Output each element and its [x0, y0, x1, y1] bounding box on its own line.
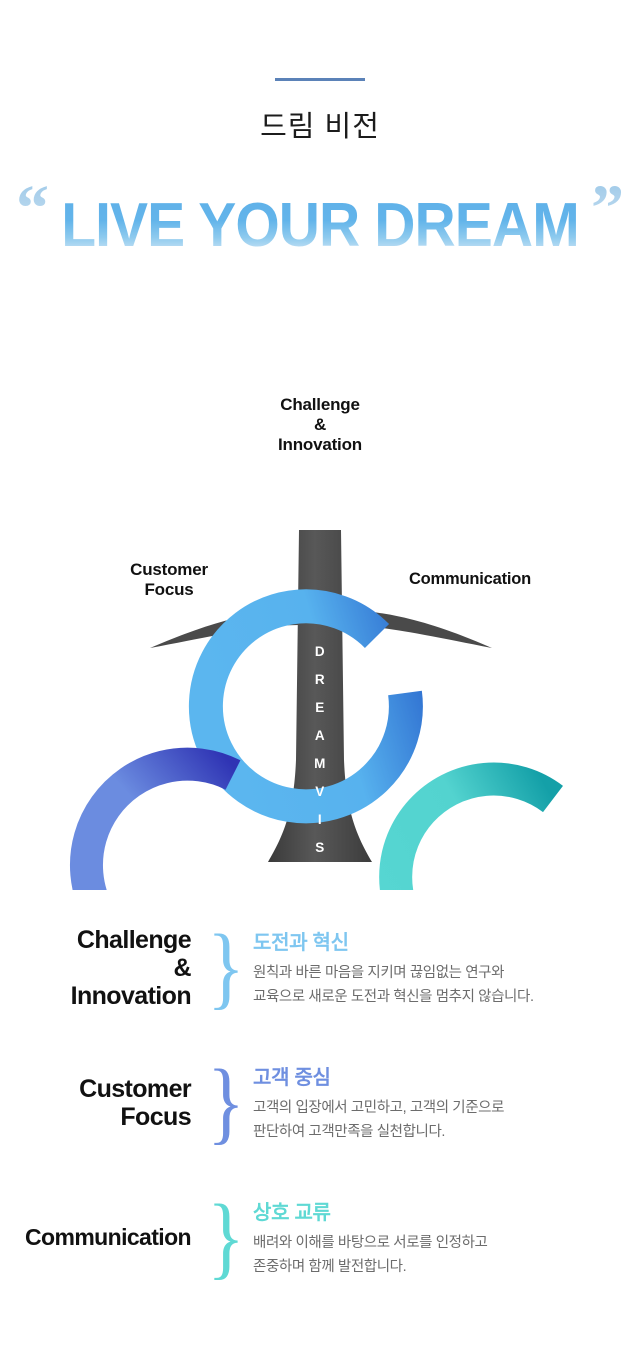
ring-label-communication: Communication	[365, 570, 575, 589]
page-header: 드림 비전	[0, 0, 640, 145]
ring-label-challenge: Challenge & Innovation	[232, 395, 408, 455]
value-en-line: &	[0, 954, 191, 982]
value-en-line: Challenge	[0, 926, 191, 954]
ring-label-line: Customer	[85, 560, 253, 580]
svg-text:E: E	[315, 700, 325, 715]
value-desc-line: 판단하여 고객만족을 실천합니다.	[253, 1121, 640, 1144]
ring-label-line: Challenge	[232, 395, 408, 415]
value-description: 원칙과 바른 마음을 지키며 끊임없는 연구와 교육으로 새로운 도전과 혁신을…	[253, 962, 640, 1009]
svg-text:V: V	[315, 784, 325, 799]
value-kr-title: 도전과 혁신	[253, 926, 640, 955]
ring-label-line: Communication	[365, 570, 575, 589]
value-desc-line: 고객의 입장에서 고민하고, 고객의 기준으로	[253, 1097, 640, 1120]
value-desc-line: 교육으로 새로운 도전과 혁신을 멈추지 않습니다.	[253, 986, 640, 1009]
value-en-line: Innovation	[0, 982, 191, 1010]
value-description: 배려와 이해를 바탕으로 서로를 인정하고 존중하며 함께 발전합니다.	[253, 1232, 640, 1279]
value-en-title: Communication	[0, 1225, 205, 1251]
value-body: 고객 중심 고객의 입장에서 고민하고, 고객의 기준으로 판단하여 고객만족을…	[247, 1061, 640, 1144]
value-row-challenge: Challenge & Innovation } 도전과 혁신 원칙과 바른 마…	[0, 900, 640, 1035]
page-title: 드림 비전	[0, 103, 640, 145]
svg-text:D: D	[315, 644, 325, 659]
svg-text:R: R	[315, 672, 325, 687]
trunk-label: D R E A M V I S I	[314, 644, 326, 883]
svg-text:I: I	[318, 868, 322, 883]
ring-communication	[396, 779, 553, 890]
value-desc-line: 존중하며 함께 발전합니다.	[253, 1256, 640, 1279]
svg-text:I: I	[318, 812, 322, 827]
quote-close-icon: ”	[591, 176, 624, 242]
value-en-title: Challenge & Innovation	[0, 926, 205, 1010]
svg-text:M: M	[314, 756, 326, 771]
value-kr-title: 상호 교류	[253, 1196, 640, 1225]
value-en-line: Customer	[0, 1075, 191, 1103]
ring-label-line: Innovation	[232, 435, 408, 455]
value-desc-line: 원칙과 바른 마음을 지키며 끊임없는 연구와	[253, 962, 640, 985]
dream-vision-tree-diagram: D R E A M V I S I Challenge & Innovation…	[0, 290, 640, 890]
brace-icon: }	[205, 1069, 247, 1135]
value-description: 고객의 입장에서 고민하고, 고객의 기준으로 판단하여 고객만족을 실천합니다…	[253, 1097, 640, 1144]
value-en-title: Customer Focus	[0, 1075, 205, 1131]
value-desc-line: 배려와 이해를 바탕으로 서로를 인정하고	[253, 1232, 640, 1255]
hero-slogan-text: LIVE YOUR DREAM	[26, 190, 615, 262]
value-body: 상호 교류 배려와 이해를 바탕으로 서로를 인정하고 존중하며 함께 발전합니…	[247, 1196, 640, 1279]
svg-text:A: A	[315, 728, 325, 743]
value-row-communication: Communication } 상호 교류 배려와 이해를 바탕으로 서로를 인…	[0, 1170, 640, 1305]
value-row-customer: Customer Focus } 고객 중심 고객의 입장에서 고민하고, 고객…	[0, 1035, 640, 1170]
dream-vision-page: 드림 비전 “ LIVE YOUR DREAM ”	[0, 0, 640, 1363]
brace-icon: }	[205, 1204, 247, 1270]
values-list: Challenge & Innovation } 도전과 혁신 원칙과 바른 마…	[0, 900, 640, 1305]
value-en-line: Communication	[0, 1225, 191, 1251]
svg-text:S: S	[315, 840, 325, 855]
value-en-line: Focus	[0, 1103, 191, 1131]
hero-slogan: “ LIVE YOUR DREAM ”	[0, 172, 640, 280]
title-divider	[275, 78, 365, 81]
ring-customer	[86, 764, 248, 890]
value-body: 도전과 혁신 원칙과 바른 마음을 지키며 끊임없는 연구와 교육으로 새로운 …	[247, 926, 640, 1009]
ring-label-customer: Customer Focus	[85, 560, 253, 600]
value-kr-title: 고객 중심	[253, 1061, 640, 1090]
brace-icon: }	[205, 934, 247, 1000]
ring-label-line: &	[232, 415, 408, 435]
ring-label-line: Focus	[85, 580, 253, 600]
